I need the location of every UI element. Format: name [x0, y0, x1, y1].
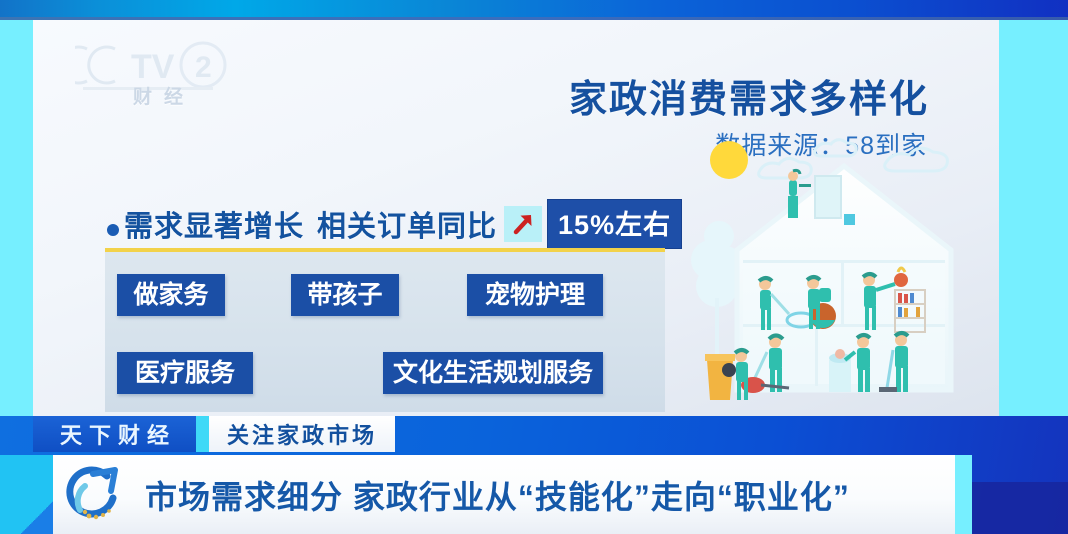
service-tag: 宠物护理 [467, 274, 603, 316]
graphic-title: 家政消费需求多样化 [569, 68, 929, 123]
headline-text: 市场需求细分 家政行业从“技能化”走向“职业化” [145, 472, 850, 518]
service-tag-label: 文化生活规划服务 [393, 361, 593, 386]
service-tag-label: 医疗服务 [135, 361, 235, 386]
main-graphic-panel: TV 2 财经 家政消费需求多样化 数据来源：58到家 需求显著增长 相关订单同… [33, 20, 999, 416]
cctv-logo-sublabel: 财经 [109, 82, 219, 109]
svg-text:TV: TV [131, 48, 175, 86]
banner-lead-text: 需求显著增长 [124, 203, 304, 245]
right-cyan-band [999, 20, 1068, 416]
ticker-right-cyan-strip [955, 455, 972, 534]
service-tag-label: 带孩子 [307, 283, 382, 308]
trend-up-arrow-icon [504, 206, 542, 242]
banner-mid-text: 相关订单同比 [317, 203, 497, 245]
program-title-row: 天下财经 关注家政市场 [33, 416, 395, 452]
service-tag: 医疗服务 [117, 352, 253, 394]
headline-ticker: 市场需求细分 家政行业从“技能化”走向“职业化” [53, 455, 955, 534]
service-tag: 文化生活规划服务 [383, 352, 603, 394]
stat-banner: 需求显著增长 相关订单同比 15%左右 [107, 203, 682, 245]
bullet-dot-icon [107, 224, 119, 236]
top-blue-strip [0, 0, 1068, 17]
service-tag-label: 做家务 [133, 283, 208, 308]
left-cyan-band [0, 20, 33, 416]
program-name-label: 天下财经 [33, 416, 196, 452]
broadcast-screenshot: TV 2 财经 家政消费需求多样化 数据来源：58到家 需求显著增长 相关订单同… [0, 0, 1068, 534]
service-tag-label: 宠物护理 [485, 283, 585, 308]
svg-text:2: 2 [195, 51, 212, 84]
circular-arrow-logo-icon [63, 464, 129, 526]
service-tag: 带孩子 [291, 274, 399, 316]
service-tag: 做家务 [117, 274, 225, 316]
ticker-corner-navy-block [972, 482, 1068, 534]
segment-name-label: 关注家政市场 [209, 416, 395, 452]
program-divider [196, 416, 209, 452]
service-tag-panel: 做家务带孩子宠物护理医疗服务文化生活规划服务 [105, 248, 665, 412]
highlight-percentage-badge: 15%左右 [547, 199, 682, 249]
housekeeping-house-illustration [689, 138, 999, 416]
sun-icon [710, 141, 748, 179]
